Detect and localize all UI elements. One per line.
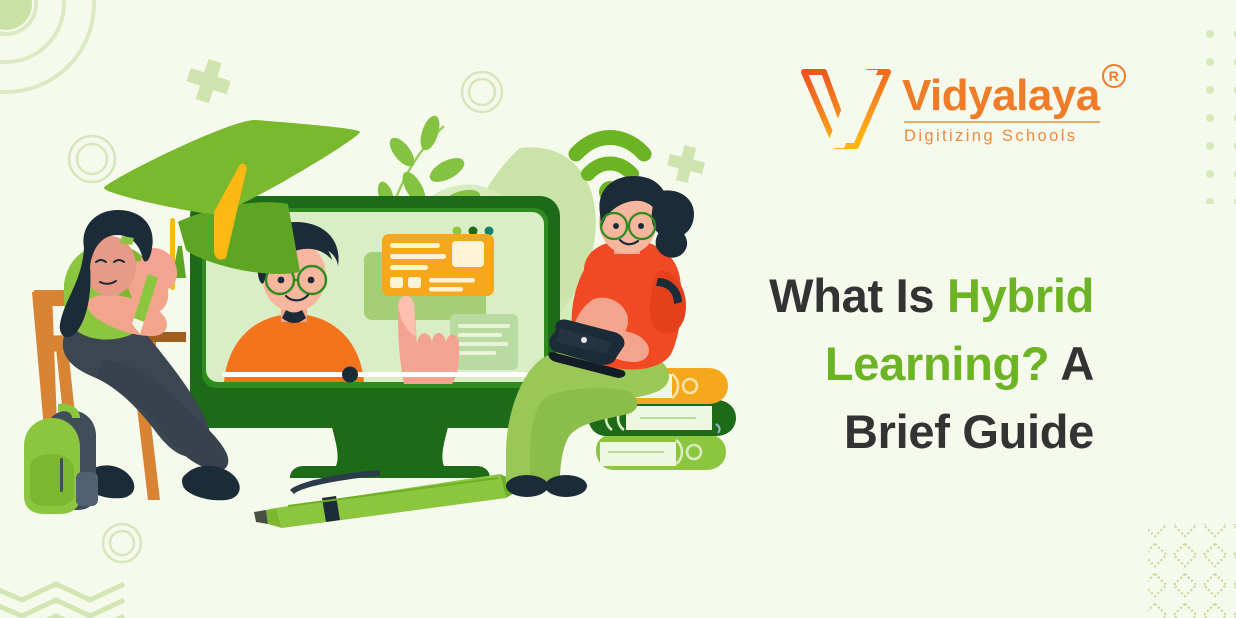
headline-line3-plain: Brief Guide [844, 405, 1094, 458]
right-student-shoe-back [506, 475, 548, 497]
vidyalaya-logo[interactable]: R Vidyalaya Digitizing Schools [800, 68, 1100, 168]
right-student-shoe-front [545, 475, 587, 497]
monitor-stand [290, 420, 490, 478]
logo-tagline: Digitizing Schools [902, 127, 1100, 146]
hybrid-learning-banner: R Vidyalaya Digitizing Schools What Is H… [0, 0, 1236, 618]
headline-line1-plain: What Is [769, 269, 947, 322]
vidyalaya-v-mark [800, 68, 892, 150]
screen-yellow-card [382, 234, 494, 296]
logo-wordmark: Vidyalaya [902, 74, 1100, 118]
headline-line2-accent: Learning? [825, 337, 1049, 390]
headline-line2-plain: A [1049, 337, 1094, 390]
backpack [24, 404, 98, 514]
registered-trademark-icon: R [1102, 64, 1126, 88]
logo-divider-rule [904, 121, 1100, 123]
page-title: What Is Hybrid Learning? A Brief Guide [574, 262, 1094, 466]
screen-text-block [450, 314, 518, 370]
logo-text-column: R Vidyalaya Digitizing Schools [902, 68, 1100, 146]
left-student-shoe-front [182, 466, 240, 501]
headline-line1-accent: Hybrid [947, 269, 1094, 322]
green-pencil [254, 470, 536, 528]
